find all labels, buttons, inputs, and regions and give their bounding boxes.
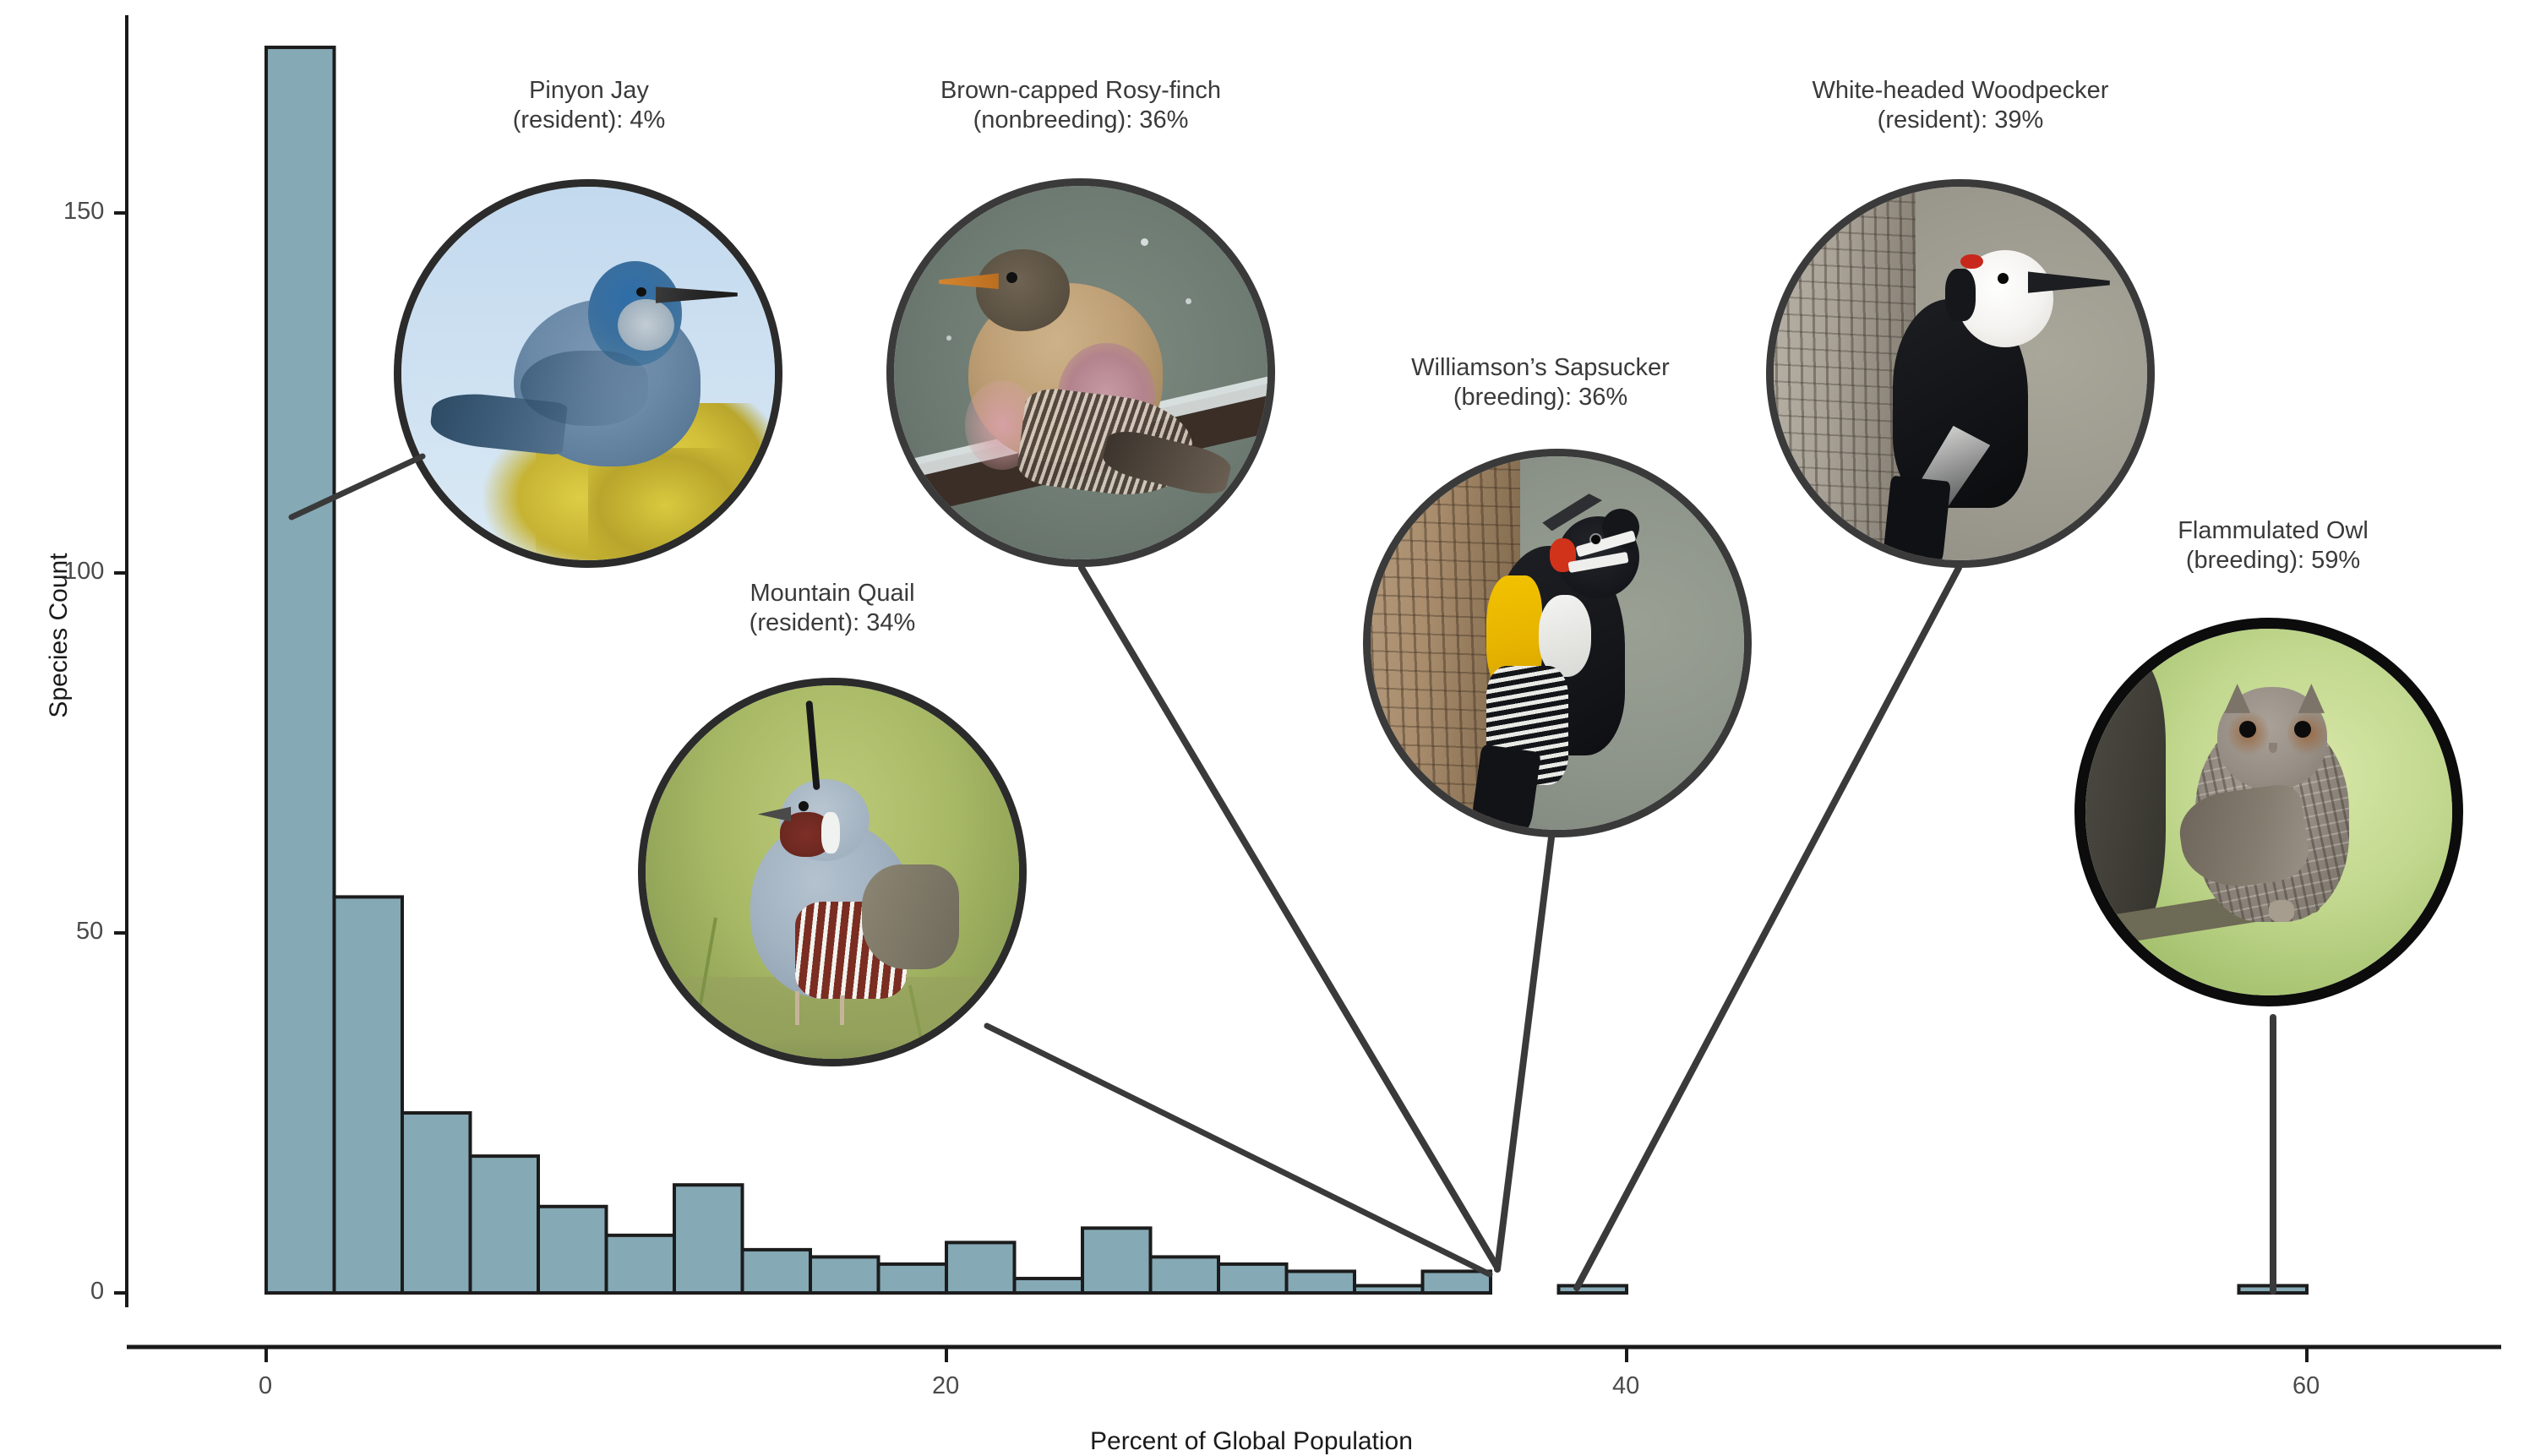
histogram-bar [1423,1271,1491,1293]
y-tick-label-50: 50 [76,918,103,946]
histogram-bar [879,1264,947,1293]
leader-line-white-headed-woodpecker [1577,568,1959,1288]
x-axis-title: Percent of Global Population [1090,1427,1413,1456]
annotation-label-brown-capped-rosy-finch: Brown-capped Rosy-finch (nonbreeding): 3… [870,76,1292,136]
histogram-bar [1015,1279,1083,1293]
annotation-label-pinyon-jay: Pinyon Jay (resident): 4% [420,76,758,136]
annotation-detail-flammulated-owl: (breeding): 59% [2104,546,2442,575]
annotation-detail-brown-capped-rosy-finch: (nonbreeding): 36% [870,106,1292,135]
x-tick-label-60: 60 [2292,1372,2320,1400]
y-tick-label-150: 150 [63,198,104,226]
leader-line-williamsons-sapsucker [1497,837,1551,1269]
histogram-bar [946,1242,1015,1293]
annotation-species-white-headed-woodpecker: White-headed Woodpecker [1813,77,2109,104]
annotation-species-williamsons-sapsucker: Williamson’s Sapsucker [1411,354,1670,381]
x-axis-ticks [266,1347,2307,1362]
annotation-detail-pinyon-jay: (resident): 4% [420,106,758,135]
histogram-bar [335,897,403,1293]
annotation-species-pinyon-jay: Pinyon Jay [529,77,649,104]
annotation-label-flammulated-owl: Flammulated Owl (breeding): 59% [2104,516,2442,576]
histogram-bar [743,1250,811,1293]
x-tick-label-20: 20 [932,1372,959,1400]
histogram-bar [607,1235,675,1293]
annotation-detail-white-headed-woodpecker: (resident): 39% [1749,106,2172,135]
histogram-bar [1082,1228,1151,1293]
annotation-detail-williamsons-sapsucker: (breeding): 36% [1350,383,1731,412]
x-tick-label-0: 0 [259,1372,272,1400]
histogram-bars [266,47,2307,1293]
y-axis-title: Species Count [45,538,74,733]
histogram-bar [1287,1271,1355,1293]
histogram-bar [538,1207,607,1293]
histogram-bar [810,1257,879,1293]
histogram-bar [1355,1285,1423,1293]
histogram-bar [402,1113,471,1293]
histogram-bar [1151,1257,1219,1293]
x-tick-label-40: 40 [1612,1372,1639,1400]
histogram-bar [674,1185,743,1293]
histogram-bar [1218,1264,1287,1293]
annotation-detail-mountain-quail: (resident): 34% [663,608,1001,638]
leader-line-brown-capped-rosy-finch [1082,568,1497,1268]
annotation-species-mountain-quail: Mountain Quail [750,580,914,607]
histogram-bar [471,1156,539,1293]
annotation-label-mountain-quail: Mountain Quail (resident): 34% [663,579,1001,639]
leader-line-mountain-quail [987,1026,1490,1274]
annotation-species-brown-capped-rosy-finch: Brown-capped Rosy-finch [940,77,1221,104]
plot-area [0,0,2535,1412]
histogram-bar [1559,1285,1627,1293]
y-tick-label-0: 0 [90,1278,104,1306]
histogram-bar [266,47,335,1293]
chart-canvas: 150 100 50 0 0 20 40 60 Species Count Pe… [0,0,2535,1412]
annotation-species-flammulated-owl: Flammulated Owl [2178,517,2369,544]
annotation-label-williamsons-sapsucker: Williamson’s Sapsucker (breeding): 36% [1350,353,1731,413]
leader-lines [292,456,2273,1291]
y-axis-ticks [114,213,127,1293]
annotation-label-white-headed-woodpecker: White-headed Woodpecker (resident): 39% [1749,76,2172,136]
